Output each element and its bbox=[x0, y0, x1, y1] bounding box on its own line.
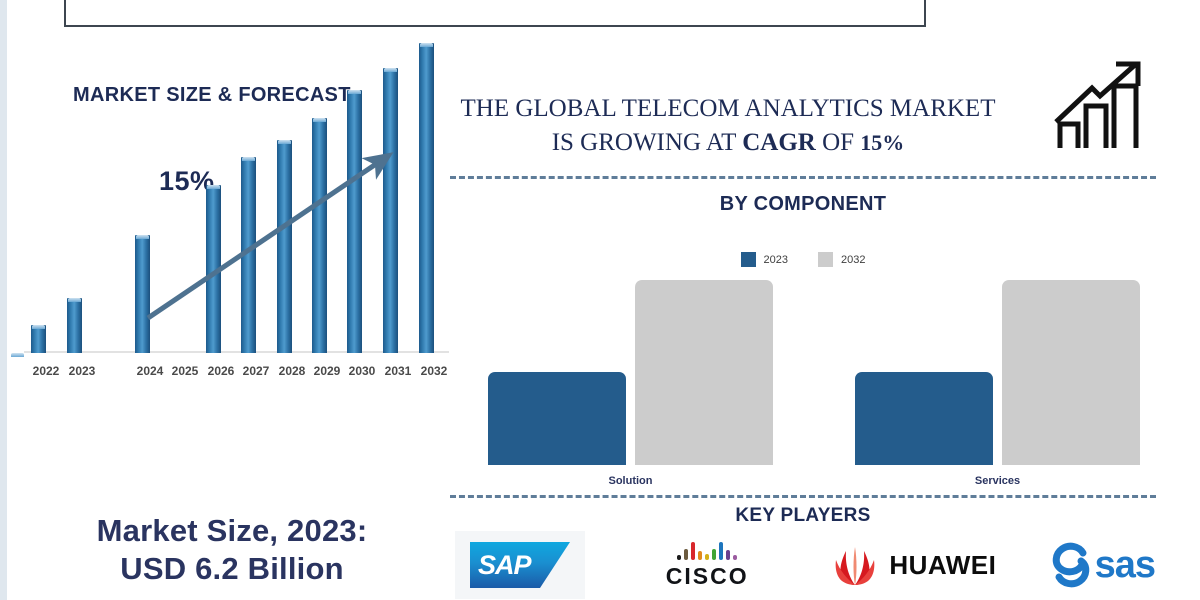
huawei-logo-text: HUAWEI bbox=[889, 550, 996, 581]
market-size-2023-callout: Market Size, 2023: USD 6.2 Billion bbox=[52, 512, 412, 588]
bar-solution-2032 bbox=[635, 280, 773, 465]
sap-logo-mark: SAP bbox=[470, 542, 570, 588]
market-size-line-1: Market Size, 2023: bbox=[52, 512, 412, 550]
bar-services-2032 bbox=[1002, 280, 1140, 465]
xtick-services: Services bbox=[855, 475, 1140, 487]
logo-sap[interactable]: SAP bbox=[455, 530, 585, 600]
market-size-forecast-heading: MARKET SIZE & FORECAST bbox=[73, 84, 351, 107]
by-component-chart: Solution Services bbox=[450, 270, 1160, 495]
legend-swatch-2023 bbox=[741, 252, 756, 267]
divider-top bbox=[450, 176, 1156, 179]
legend-label-2032: 2032 bbox=[841, 254, 865, 266]
component-chart-legend: 2023 2032 bbox=[450, 252, 1156, 267]
left-edge-strip bbox=[0, 0, 7, 600]
legend-item-2032: 2032 bbox=[818, 252, 865, 267]
statement-text-part2: OF bbox=[816, 129, 860, 156]
page-title: TELECOM ANALYTICS MARKET bbox=[259, 0, 730, 6]
growth-bar-chart-icon bbox=[1048, 56, 1152, 152]
growth-trend-arrow-icon bbox=[10, 140, 460, 490]
xtick-solution: Solution bbox=[488, 475, 773, 487]
key-players-logos: SAP CISCO bbox=[455, 530, 1155, 600]
bar-solution-2023 bbox=[488, 372, 626, 465]
legend-label-2023: 2023 bbox=[764, 254, 788, 266]
sas-spiral-icon bbox=[1049, 539, 1093, 591]
cisco-logo-mark: CISCO bbox=[637, 540, 777, 590]
logo-sas[interactable]: sas bbox=[1049, 530, 1155, 600]
sap-logo-box: SAP bbox=[455, 531, 585, 599]
logo-cisco[interactable]: CISCO bbox=[637, 530, 777, 600]
legend-swatch-2032 bbox=[818, 252, 833, 267]
bar-services-2023 bbox=[855, 372, 993, 465]
logo-huawei[interactable]: HUAWEI bbox=[829, 530, 996, 600]
infographic-canvas: TELECOM ANALYTICS MARKET MARKET SIZE & F… bbox=[0, 0, 1200, 600]
statement-cagr-value: 15% bbox=[860, 130, 904, 155]
global-market-statement: THE GLOBAL TELECOM ANALYTICS MARKET IS G… bbox=[448, 92, 1008, 160]
sas-logo-text: sas bbox=[1095, 544, 1155, 587]
by-component-title: BY COMPONENT bbox=[450, 193, 1156, 216]
huawei-logo-mark: HUAWEI bbox=[829, 541, 996, 589]
legend-item-2023: 2023 bbox=[741, 252, 788, 267]
cisco-logo-bars bbox=[637, 540, 777, 560]
huawei-flower-icon bbox=[829, 541, 881, 589]
sap-logo-text: SAP bbox=[470, 550, 531, 581]
cisco-logo-text: CISCO bbox=[637, 563, 777, 590]
market-size-line-2: USD 6.2 Billion bbox=[52, 550, 412, 588]
title-box: TELECOM ANALYTICS MARKET bbox=[64, 0, 926, 27]
sas-logo-mark: sas bbox=[1049, 539, 1155, 591]
statement-cagr-emphasis: CAGR bbox=[742, 129, 816, 156]
divider-bottom bbox=[450, 495, 1156, 498]
key-players-title: KEY PLAYERS bbox=[450, 505, 1156, 527]
market-size-forecast-chart: 2022 2023 2024 2025 2026 2027 2028 2029 … bbox=[10, 140, 460, 490]
statement-text-part1: THE GLOBAL TELECOM ANALYTICS MARKET IS G… bbox=[461, 95, 996, 156]
